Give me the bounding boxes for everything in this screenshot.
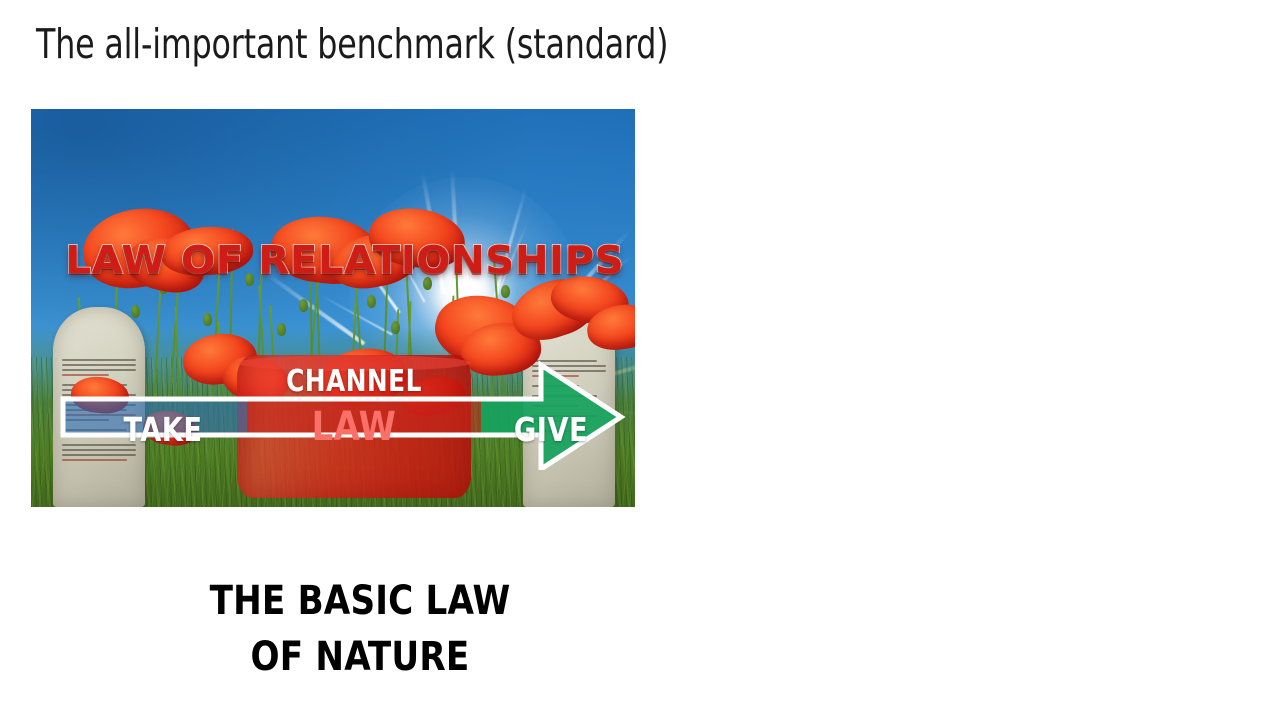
caption-line-1: THE BASIC LAW: [132, 573, 588, 629]
flower-bud: [203, 313, 212, 326]
image-headline: LAW OF RELATIONSHIPS: [65, 238, 616, 282]
flower-bud: [131, 305, 140, 318]
flower-bud: [367, 295, 376, 308]
page-title: The all-important benchmark (standard): [36, 18, 668, 70]
slide-caption: THE BASIC LAW OF NATURE: [132, 573, 588, 685]
arrow-label-channel: CHANNEL: [246, 365, 461, 399]
flower-bud: [501, 285, 510, 298]
caption-line-2: OF NATURE: [132, 629, 588, 685]
arrow-label-law: LAW: [244, 405, 464, 449]
flower-bud: [391, 321, 400, 334]
arrow-take-segment: [41, 345, 247, 470]
flower-bud: [299, 299, 308, 312]
arrow-label-take: TAKE: [99, 412, 228, 448]
arrow-label-give: GIVE: [491, 412, 611, 448]
slide-image: LAW OF RELATIONSHIPS TAKE CHANNEL LAW GI…: [31, 109, 635, 507]
arrow-give-segment: [481, 345, 635, 470]
flower-bud: [277, 323, 286, 336]
